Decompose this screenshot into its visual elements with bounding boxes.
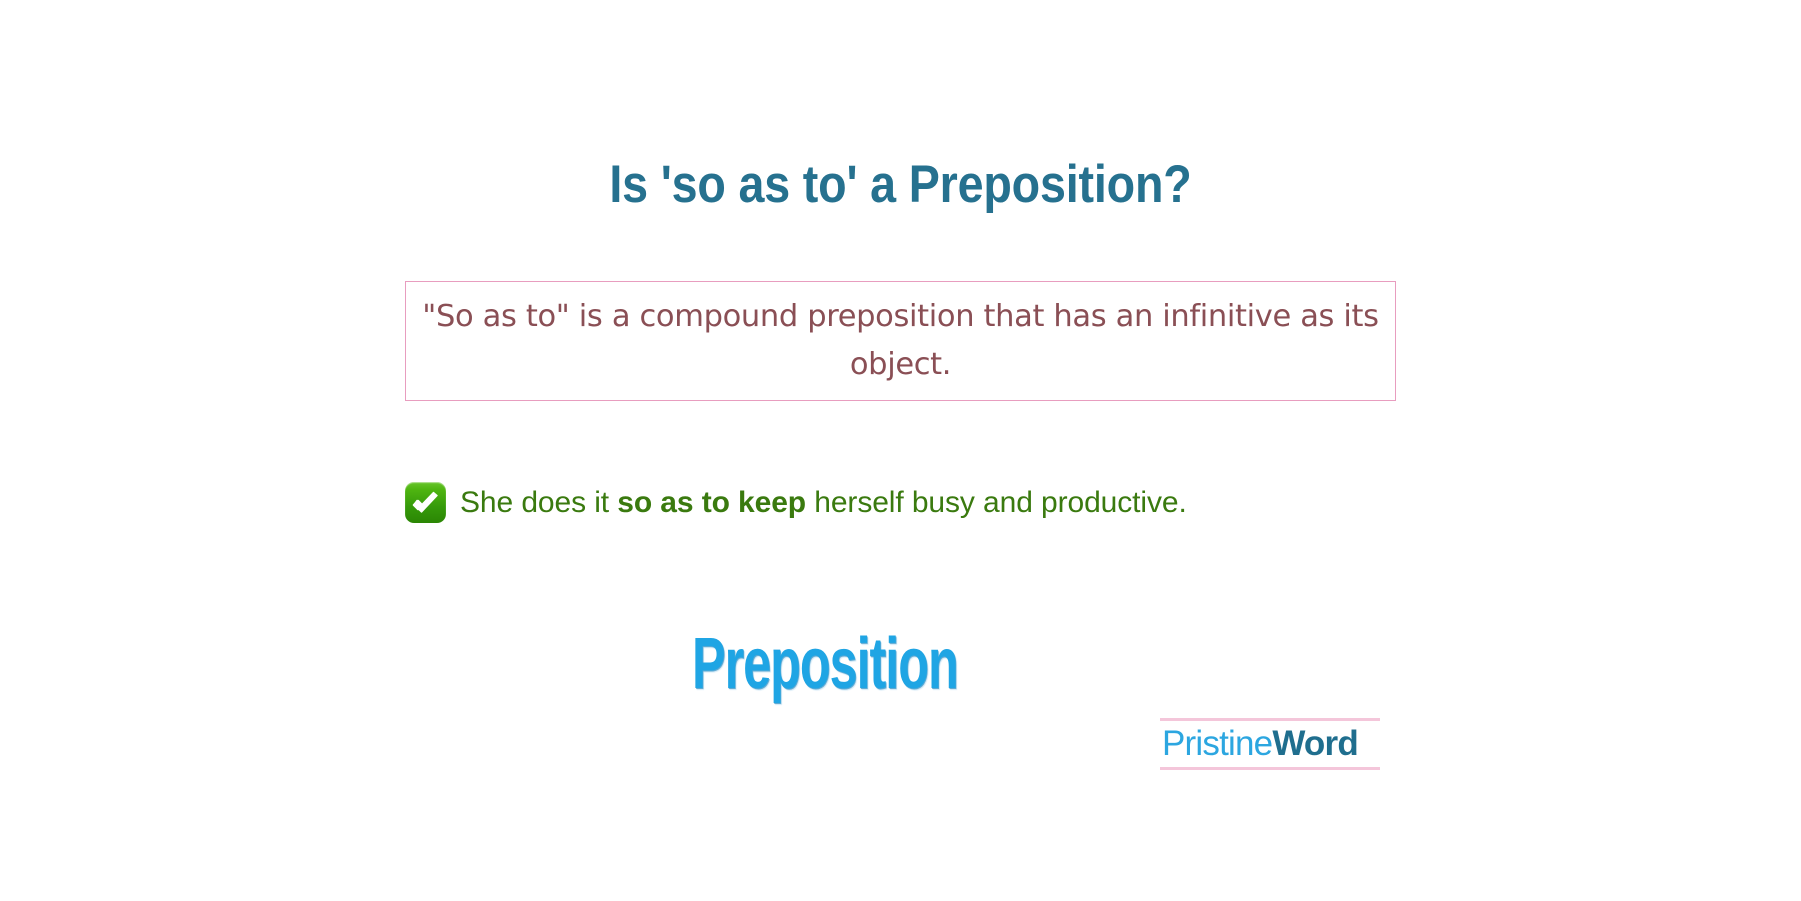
example-sentence: She does it so as to keep herself busy a…	[460, 484, 1187, 522]
logo-part-one: Pristine	[1162, 724, 1272, 763]
page-canvas: Is 'so as to' a Preposition? "So as to" …	[0, 0, 1801, 901]
page-title: Is 'so as to' a Preposition?	[108, 154, 1693, 216]
example-sentence-row: She does it so as to keep herself busy a…	[405, 482, 1187, 523]
site-logo[interactable]: PristineWord	[1160, 718, 1380, 770]
example-suffix: herself busy and productive.	[806, 486, 1187, 519]
wordart-graphic: Preposition	[692, 628, 1042, 700]
logo-part-two: Word	[1272, 724, 1358, 763]
logo-wordmark: PristineWord	[1160, 723, 1358, 765]
definition-text: "So as to" is a compound preposition tha…	[406, 293, 1395, 389]
example-highlight: so as to keep	[617, 486, 806, 519]
definition-callout-box: "So as to" is a compound preposition tha…	[405, 281, 1396, 401]
white-heavy-check-mark-icon	[405, 482, 446, 523]
wordart-label: Preposition	[692, 628, 958, 700]
example-prefix: She does it	[460, 486, 617, 519]
